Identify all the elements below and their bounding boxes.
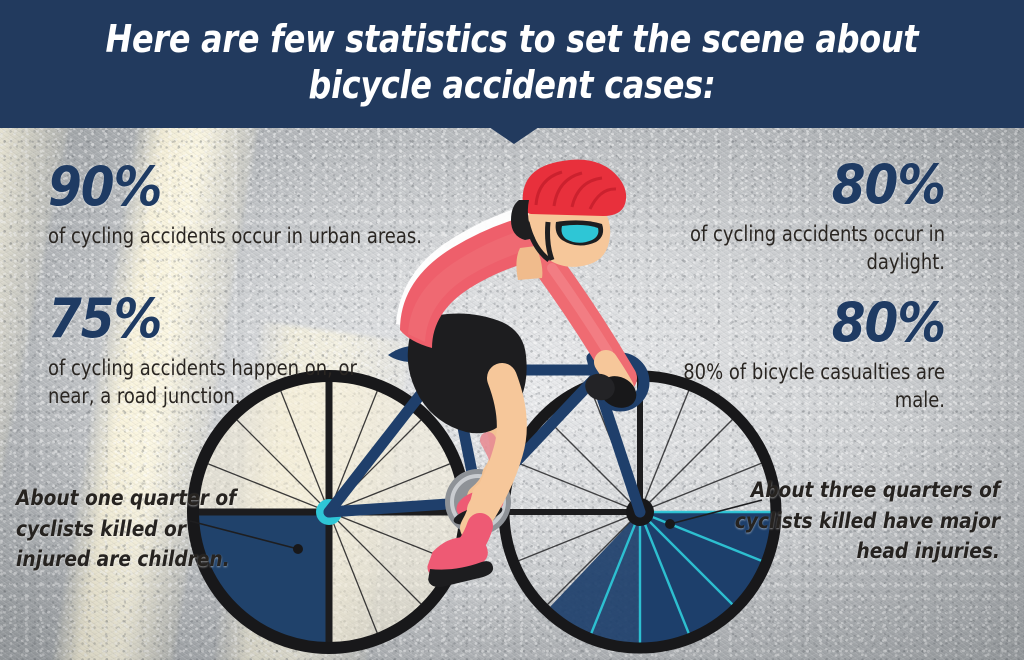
callout-children: About one quarter of cyclists killed or …: [16, 484, 266, 576]
stat-percent-daylight: 80%: [640, 158, 945, 212]
stat-block-urban: 90% of cycling accidents occur in urban …: [48, 160, 448, 251]
page-title: Here are few statistics to set the scene…: [94, 16, 931, 109]
header-pointer-triangle: [489, 127, 539, 144]
stat-block-junction: 75% of cycling accidents happen on, or n…: [48, 292, 418, 410]
infographic-root: Here are few statistics to set the scene…: [0, 0, 1024, 660]
stat-description-urban: of cycling accidents occur in urban area…: [48, 223, 428, 251]
stat-percent-male: 80%: [640, 296, 945, 350]
callout-head-injuries: About three quarters of cyclists killed …: [712, 476, 1000, 568]
stat-description-daylight: of cycling accidents occur in daylight.: [655, 221, 945, 276]
stat-percent-urban: 90%: [48, 160, 448, 214]
stat-block-daylight: 80% of cycling accidents occur in daylig…: [640, 158, 945, 276]
stat-block-male: 80% 80% of bicycle casualties are male.: [640, 296, 945, 414]
stat-description-male: 80% of bicycle casualties are male.: [655, 359, 945, 414]
stat-percent-junction: 75%: [48, 292, 418, 346]
stat-description-junction: of cycling accidents happen on, or near,…: [48, 355, 400, 410]
